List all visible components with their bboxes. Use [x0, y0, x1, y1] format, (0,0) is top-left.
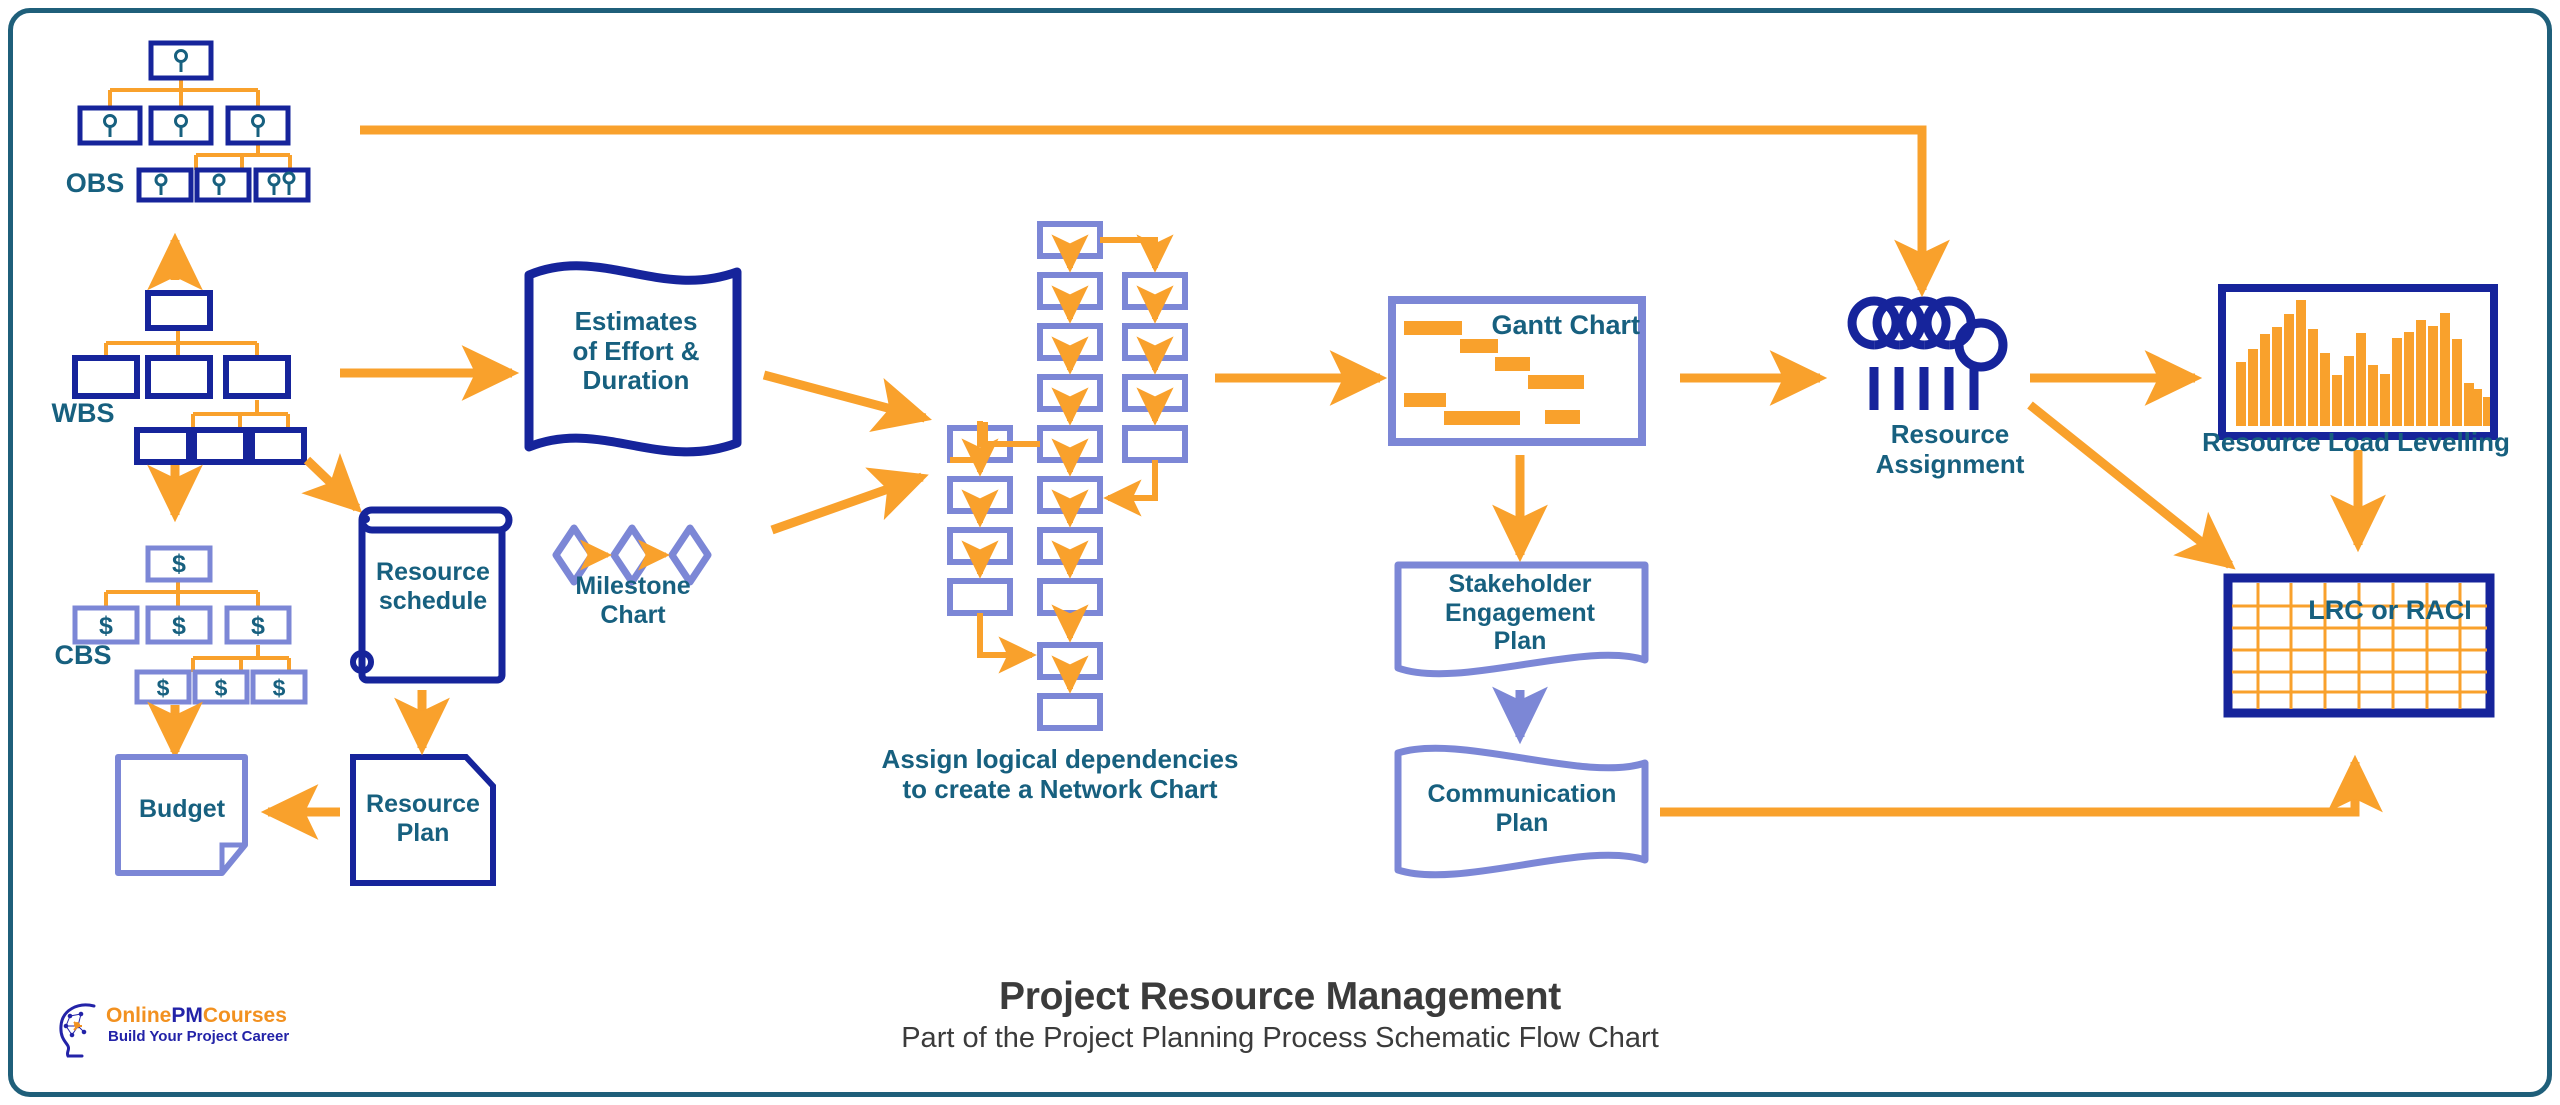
lrc-raci-label: LRC or RACI	[2280, 595, 2500, 626]
logo-wordmark: OnlinePMCourses	[106, 1004, 287, 1028]
brand-logo[interactable]: OnlinePMCourses Build Your Project Caree…	[48, 1000, 278, 1062]
cbs-tree: $ $ $ $ $ $ $	[75, 548, 305, 702]
svg-text:$: $	[251, 612, 265, 640]
resource-schedule-label: Resource schedule	[362, 558, 504, 615]
resource-assignment-label: Resource Assignment	[1840, 420, 2060, 479]
budget-label: Budget	[118, 795, 246, 824]
wbs-label: WBS	[28, 398, 138, 429]
svg-text:$: $	[99, 612, 113, 640]
resource-assignment-icon	[1852, 301, 2003, 410]
logo-word-online: Online	[106, 1004, 171, 1027]
obs-label: OBS	[50, 168, 140, 199]
page-title: Project Resource Management	[0, 975, 2560, 1019]
head-network-icon	[48, 1000, 108, 1060]
resource-load-levelling-label: Resource Load Levelling	[2196, 428, 2516, 458]
network-chart-shape	[950, 224, 1185, 728]
diagram-canvas: $ $ $ $ $ $ $	[0, 0, 2560, 1105]
cbs-label: CBS	[28, 640, 138, 671]
diagram-graphics: $ $ $ $ $ $ $	[0, 0, 2560, 1105]
arrow-estimates-to-network	[764, 375, 925, 418]
svg-text:$: $	[273, 675, 286, 701]
arrow-milestone-to-network	[772, 477, 922, 530]
svg-text:$: $	[172, 550, 186, 578]
milestone-chart-label: Milestone Chart	[554, 572, 712, 629]
resource-plan-label: Resource Plan	[353, 790, 493, 847]
logo-word-courses: Courses	[203, 1004, 287, 1027]
page-subtitle: Part of the Project Planning Process Sch…	[0, 1022, 2560, 1055]
logo-tagline: Build Your Project Career	[108, 1028, 289, 1045]
stakeholder-plan-label: Stakeholder Engagement Plan	[1400, 570, 1640, 656]
arrow-wbs-to-resource-schedule	[307, 460, 357, 508]
svg-text:$: $	[157, 675, 170, 701]
communication-plan-label: Communication Plan	[1398, 780, 1646, 837]
wbs-tree	[75, 293, 304, 462]
resource-load-levelling-shape	[2222, 288, 2494, 436]
estimates-label: Estimates of Effort & Duration	[536, 307, 736, 396]
network-chart-label: Assign logical dependencies to create a …	[860, 745, 1260, 804]
svg-text:$: $	[215, 675, 228, 701]
logo-word-pm: PM	[171, 1004, 203, 1027]
arrow-communication-to-lrc	[1660, 762, 2355, 812]
svg-text:$: $	[172, 612, 186, 640]
gantt-chart-label: Gantt Chart	[1470, 310, 1648, 341]
